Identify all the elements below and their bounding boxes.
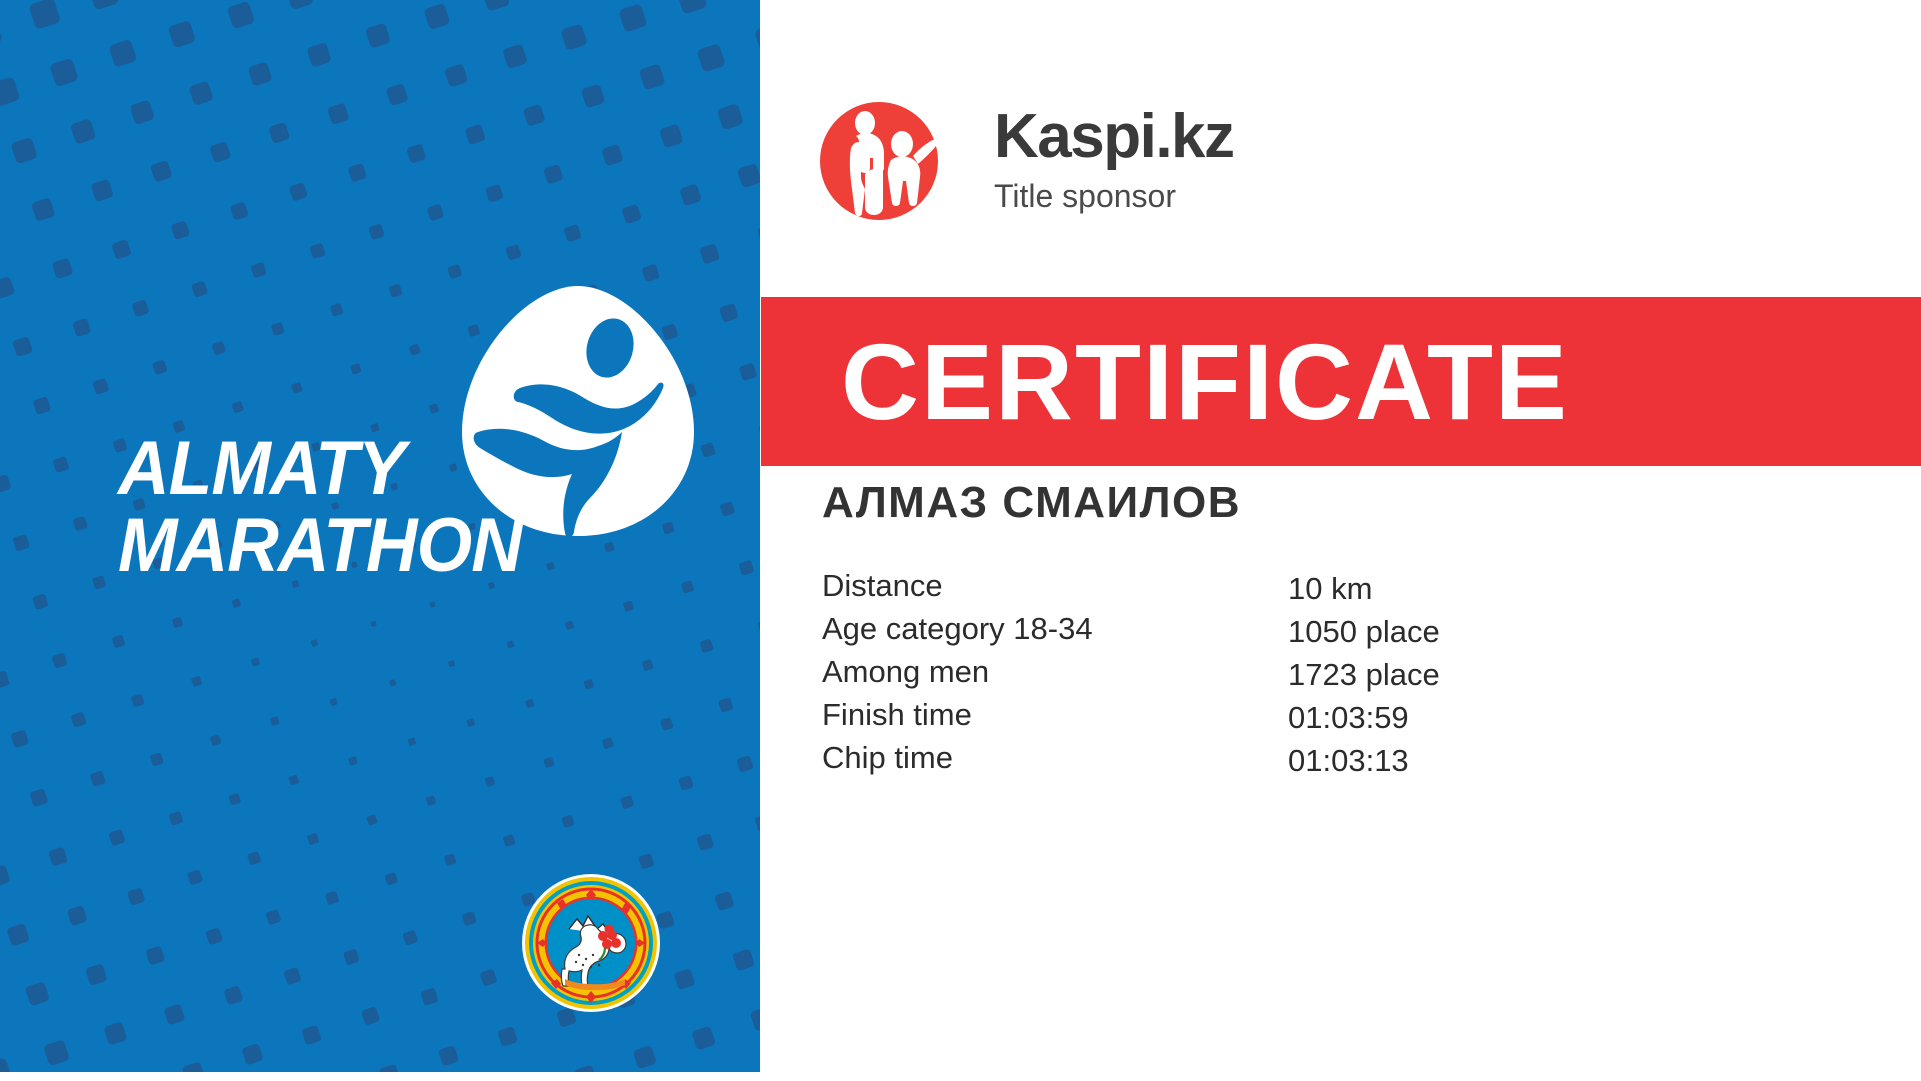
event-branding-panel: ALMATY MARATHON bbox=[0, 0, 760, 1072]
almaty-marathon-logo: ALMATY MARATHON bbox=[118, 282, 698, 612]
table-row: Chip time 01:03:13 bbox=[822, 740, 1822, 783]
athlete-name: АЛМАЗ СМАИЛОВ bbox=[822, 478, 1241, 528]
result-value: 01:03:59 bbox=[1288, 700, 1409, 736]
page-title: CERTIFICATE bbox=[841, 328, 1569, 436]
certificate-page: ALMATY MARATHON bbox=[0, 0, 1921, 1081]
result-label: Age category 18-34 bbox=[822, 611, 1093, 647]
result-value: 10 km bbox=[1288, 571, 1372, 607]
sponsor-text-block: Kaspi.kz Title sponsor bbox=[994, 106, 1234, 212]
table-row: Among men 1723 place bbox=[822, 654, 1822, 697]
result-label: Finish time bbox=[822, 697, 972, 733]
result-label: Among men bbox=[822, 654, 989, 690]
result-label: Distance bbox=[822, 568, 943, 604]
certificate-title-banner: CERTIFICATE bbox=[761, 297, 1921, 466]
table-row: Finish time 01:03:59 bbox=[822, 697, 1822, 740]
certificate-details-panel: Kaspi.kz Title sponsor CERTIFICATE АЛМАЗ… bbox=[760, 0, 1921, 1081]
sponsor-role: Title sponsor bbox=[994, 180, 1234, 212]
result-value: 1723 place bbox=[1288, 657, 1440, 693]
logo-line-marathon: MARATHON bbox=[118, 511, 560, 582]
title-sponsor-block: Kaspi.kz Title sponsor bbox=[818, 98, 1234, 222]
almaty-city-emblem-icon bbox=[521, 873, 661, 1013]
results-table: Distance 10 km Age category 18-34 1050 p… bbox=[822, 568, 1822, 783]
table-row: Distance 10 km bbox=[822, 568, 1822, 611]
almaty-marathon-wordmark: ALMATY MARATHON bbox=[118, 434, 588, 581]
sponsor-name: Kaspi.kz bbox=[994, 106, 1234, 168]
result-label: Chip time bbox=[822, 740, 953, 776]
kaspi-family-circle-icon bbox=[818, 100, 940, 222]
table-row: Age category 18-34 1050 place bbox=[822, 611, 1822, 654]
result-value: 01:03:13 bbox=[1288, 743, 1409, 779]
result-value: 1050 place bbox=[1288, 614, 1440, 650]
logo-line-almaty: ALMATY bbox=[118, 434, 560, 505]
